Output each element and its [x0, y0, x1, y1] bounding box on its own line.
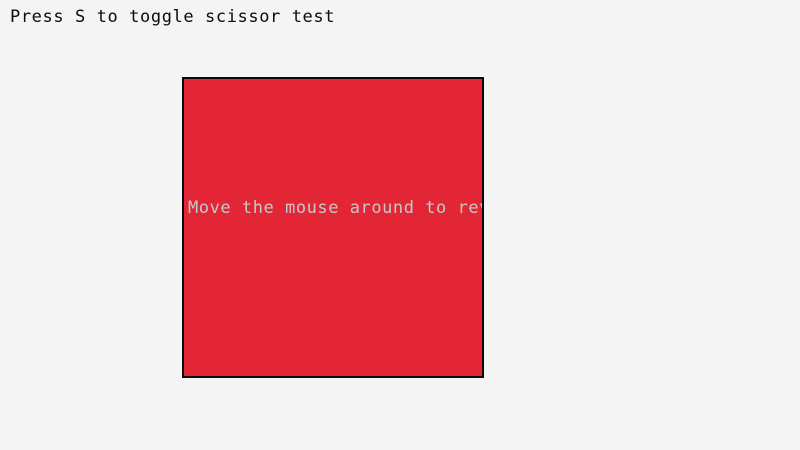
scissor-toggle-hint: Press S to toggle scissor test: [10, 7, 335, 27]
scissor-rectangle[interactable]: Move the mouse around to reveal the rest: [182, 77, 484, 378]
raylib-window: Press S to toggle scissor test Move the …: [0, 0, 800, 450]
clipped-message-text: Move the mouse around to reveal the rest: [188, 198, 484, 218]
